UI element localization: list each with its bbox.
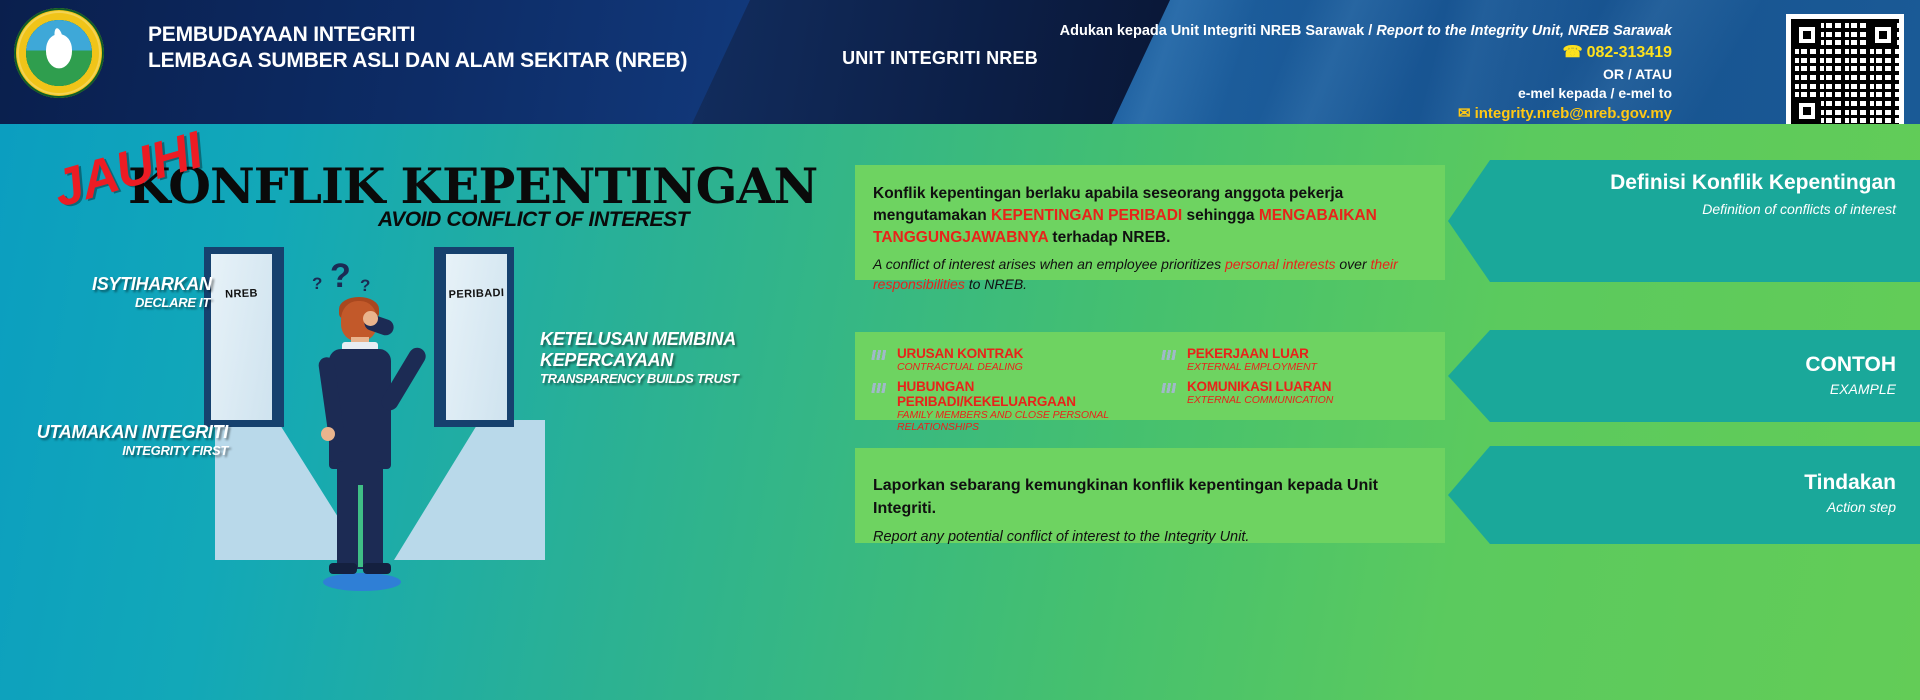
action-card: Laporkan sebarang kemungkinan konflik ke…	[855, 448, 1445, 543]
envelope-icon: ✉	[1458, 104, 1471, 124]
examples-card: URUSAN KONTRAK CONTRACTUAL DEALING HUBUN…	[855, 332, 1445, 420]
organization-title: PEMBUDAYAAN INTEGRITI LEMBAGA SUMBER ASL…	[148, 22, 687, 75]
label-integrity-en: INTEGRITY FIRST	[28, 443, 228, 458]
person-figure-icon	[305, 279, 415, 579]
example-1-ms: HUBUNGAN PERIBADI/KEKELUARGAAN	[897, 379, 1139, 409]
nreb-logo-icon	[14, 8, 104, 98]
arrows-icon	[1161, 350, 1180, 360]
doors-illustration: NREB PERIBADI ? ? ? ISYTIHARKAN	[0, 124, 850, 700]
org-line-2: LEMBAGA SUMBER ASLI DAN ALAM SEKITAR (NR…	[148, 48, 687, 74]
example-2-en: EXTERNAL EMPLOYMENT	[1187, 361, 1317, 373]
definition-body-en: A conflict of interest arises when an em…	[873, 255, 1425, 295]
example-2-ms: PEKERJAAN LUAR	[1187, 346, 1317, 361]
example-3-ms: KOMUNIKASI LUARAN	[1187, 379, 1333, 394]
email-label: e-mel kepada / e-mel to	[972, 84, 1672, 103]
tab-example: CONTOH EXAMPLE	[1448, 330, 1920, 422]
door-right-label: PERIBADI	[446, 287, 507, 301]
action-body-en: Report any potential conflict of interes…	[873, 527, 1425, 548]
email-address: integrity.nreb@nreb.gov.my	[1475, 105, 1672, 122]
label-declare-ms: ISYTIHARKAN	[92, 274, 210, 295]
definition-en-part1: A conflict of interest arises when an em…	[873, 256, 1225, 272]
examples-column-right: PEKERJAAN LUAR EXTERNAL EMPLOYMENT KOMUN…	[1161, 346, 1429, 439]
label-declare-it: ISYTIHARKAN DECLARE IT	[92, 274, 210, 310]
example-1-en: FAMILY MEMBERS AND CLOSE PERSONAL RELATI…	[897, 409, 1139, 433]
label-integrity-ms: UTAMAKAN INTEGRITI	[28, 422, 228, 443]
arrows-icon	[871, 350, 890, 360]
report-label-ms: Adukan kepada Unit Integriti NREB Sarawa…	[1060, 23, 1377, 39]
definition-ms-highlight1: KEPENTINGAN PERIBADI	[991, 207, 1182, 224]
label-integrity-first: UTAMAKAN INTEGRITI INTEGRITY FIRST	[28, 422, 228, 458]
tab-action: Tindakan Action step	[1448, 446, 1920, 544]
definition-ms-part3: terhadap NREB.	[1048, 229, 1170, 246]
definition-en-part3: to NREB.	[965, 276, 1027, 292]
tab-definition-en: Definition of conflicts of interest	[1508, 201, 1896, 218]
definition-ms-part2: sehingga	[1182, 207, 1259, 224]
definition-body-ms: Konflik kepentingan berlaku apabila sese…	[873, 183, 1425, 249]
phone-icon: ☎	[1563, 42, 1583, 63]
tab-action-en: Action step	[1508, 499, 1896, 516]
example-0-ms: URUSAN KONTRAK	[897, 346, 1023, 361]
phone-number: 082-313419	[1587, 44, 1672, 61]
tab-definition: Definisi Konflik Kepentingan Definition …	[1448, 160, 1920, 282]
list-item: URUSAN KONTRAK CONTRACTUAL DEALING	[871, 346, 1139, 373]
list-item: KOMUNIKASI LUARAN EXTERNAL COMMUNICATION	[1161, 379, 1429, 406]
arrows-icon	[1161, 383, 1180, 393]
examples-column-left: URUSAN KONTRAK CONTRACTUAL DEALING HUBUN…	[871, 346, 1139, 439]
door-peribadi: PERIBADI	[434, 247, 514, 427]
definition-card: Konflik kepentingan berlaku apabila sese…	[855, 165, 1445, 280]
or-separator: OR / ATAU	[972, 65, 1672, 84]
report-line: Adukan kepada Unit Integriti NREB Sarawa…	[972, 22, 1672, 41]
phone-line[interactable]: ☎082-313419	[972, 42, 1672, 63]
example-3-en: EXTERNAL COMMUNICATION	[1187, 394, 1333, 406]
tab-example-ms: CONTOH	[1508, 352, 1896, 377]
infographic-poster: PEMBUDAYAAN INTEGRITI LEMBAGA SUMBER ASL…	[0, 0, 1920, 700]
list-item: PEKERJAAN LUAR EXTERNAL EMPLOYMENT	[1161, 346, 1429, 373]
label-transparency-trust: KETELUSAN MEMBINA KEPERCAYAAN TRANSPAREN…	[540, 329, 770, 386]
list-item: HUBUNGAN PERIBADI/KEKELUARGAAN FAMILY ME…	[871, 379, 1139, 433]
door-nreb: NREB	[204, 247, 284, 427]
definition-en-highlight1: personal interests	[1225, 256, 1336, 272]
label-trust-en: TRANSPARENCY BUILDS TRUST	[540, 371, 770, 386]
email-line[interactable]: ✉integrity.nreb@nreb.gov.my	[972, 104, 1672, 124]
tab-definition-ms: Definisi Konflik Kepentingan	[1508, 170, 1896, 195]
door-left-label: NREB	[211, 287, 272, 301]
report-label-en: Report to the Integrity Unit, NREB Saraw…	[1376, 23, 1672, 39]
org-line-1: PEMBUDAYAAN INTEGRITI	[148, 22, 687, 48]
action-body-ms: Laporkan sebarang kemungkinan konflik ke…	[873, 474, 1425, 520]
arrows-icon	[871, 383, 890, 393]
tab-example-en: EXAMPLE	[1508, 381, 1896, 398]
tab-action-ms: Tindakan	[1508, 470, 1896, 495]
qr-code-icon[interactable]	[1786, 14, 1904, 132]
example-0-en: CONTRACTUAL DEALING	[897, 361, 1023, 373]
label-trust-ms: KETELUSAN MEMBINA KEPERCAYAAN	[540, 329, 770, 371]
definition-en-part2: over	[1336, 256, 1371, 272]
label-declare-en: DECLARE IT	[92, 295, 210, 310]
